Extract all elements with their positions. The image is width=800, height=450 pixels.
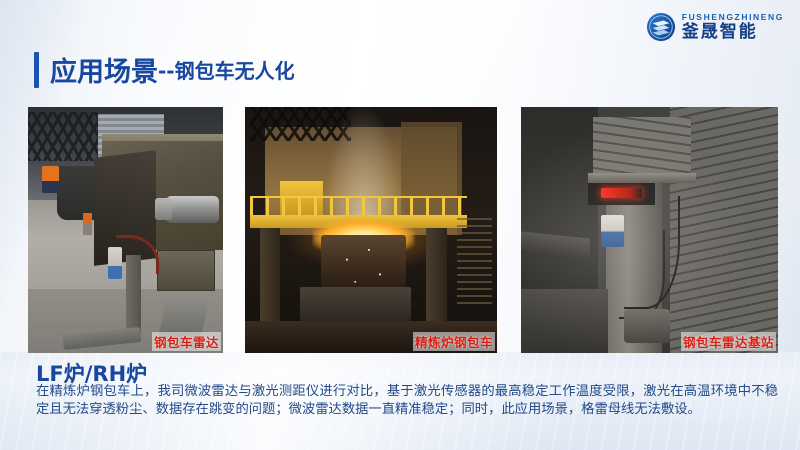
brand-chinese-name: 釜晟智能 <box>682 24 784 41</box>
page-title: 应用场景 --钢包车无人化 <box>34 50 295 89</box>
photo1-hydraulic-cylinder <box>166 196 219 223</box>
photo2-pillar-right <box>426 228 446 331</box>
photo3-caption: 钢包车雷达基站 <box>681 332 776 351</box>
slide-canvas: FUSHENGZHINENG 釜晟智能 应用场景 --钢包车无人化 钢包车雷达 <box>0 0 800 450</box>
photo1-roof-truss <box>28 112 98 161</box>
photo1-equipment-box <box>157 250 216 292</box>
footer-body-text: 在精炼炉钢包车上，我司微波雷达与激光测距仪进行对比，基于激光传感器的最高稳定工作… <box>36 383 778 418</box>
photo-ladle-car-radar-base-station: 钢包车雷达基站 <box>521 107 778 353</box>
brand-logo: FUSHENGZHINENG 釜晟智能 <box>646 12 784 42</box>
photo-refining-furnace-ladle-car: 精炼炉钢包车 <box>245 107 497 353</box>
title-accent-bar <box>34 52 39 88</box>
photo3-dust-haze <box>521 107 778 353</box>
title-main-text: 应用场景 <box>50 50 158 89</box>
photo1-worker-second <box>83 213 93 235</box>
fusheng-logo-icon <box>646 12 676 42</box>
brand-logo-text: FUSHENGZHINENG 釜晟智能 <box>682 13 784 41</box>
title-sub-text: --钢包车无人化 <box>158 55 295 84</box>
photo2-pillar-left <box>260 228 280 331</box>
photo1-cylinder-joint <box>155 198 173 220</box>
photo2-stairway <box>457 215 492 304</box>
photo2-ladle-transfer-car <box>300 287 411 324</box>
photo1-caption: 钢包车雷达 <box>152 332 221 351</box>
brand-english-name: FUSHENGZHINENG <box>682 13 784 22</box>
photo1-worker-orange-vest <box>42 166 60 193</box>
photo2-caption: 精炼炉钢包车 <box>413 332 495 351</box>
photo-ladle-car-radar: 钢包车雷达 <box>28 107 223 353</box>
photo1-radar-sensor <box>108 247 122 279</box>
